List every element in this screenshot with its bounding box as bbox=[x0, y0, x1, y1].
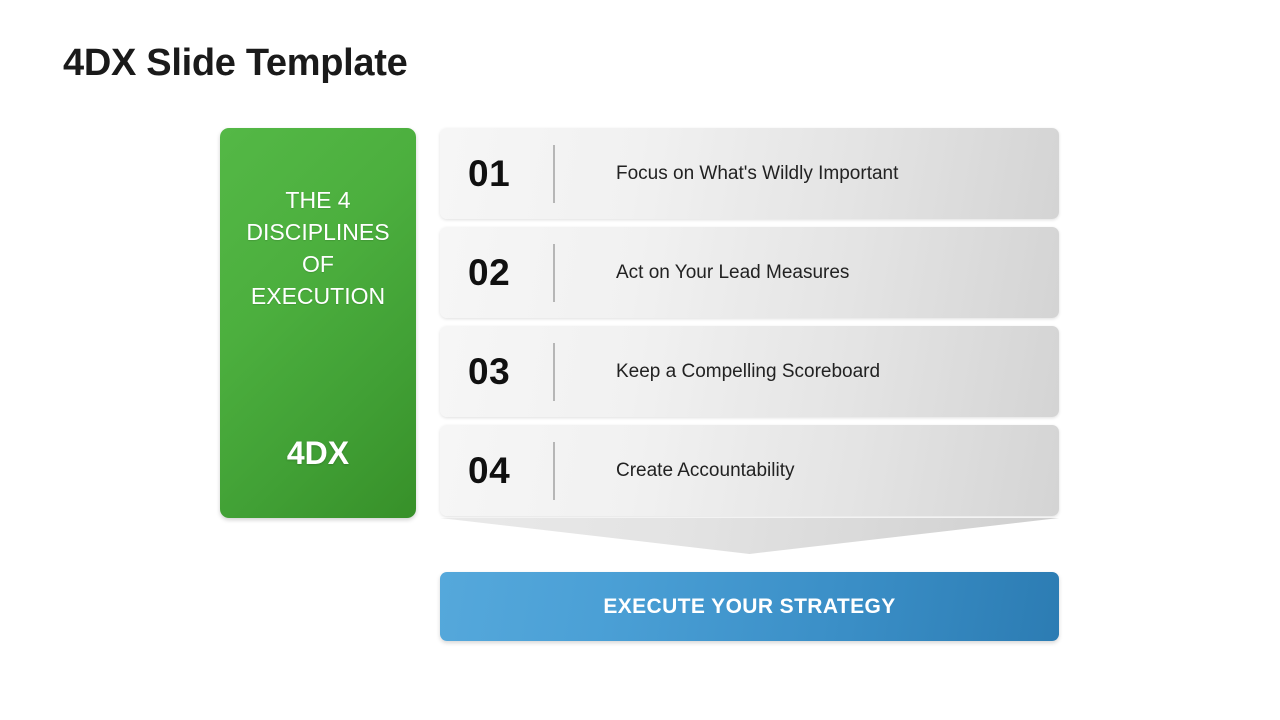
four-disciplines-heading: THE 4 DISCIPLINES OF EXECUTION bbox=[234, 184, 402, 312]
step-label: Create Accountability bbox=[555, 458, 795, 483]
step-number: 03 bbox=[440, 351, 553, 393]
steps-list: 01 Focus on What's Wildly Important 02 A… bbox=[440, 128, 1059, 516]
step-number: 02 bbox=[440, 252, 553, 294]
step-row[interactable]: 03 Keep a Compelling Scoreboard bbox=[440, 326, 1059, 417]
step-label: Keep a Compelling Scoreboard bbox=[555, 359, 880, 384]
execute-strategy-button[interactable]: EXECUTE YOUR STRATEGY bbox=[440, 572, 1059, 641]
execute-strategy-button-label: EXECUTE YOUR STRATEGY bbox=[603, 595, 895, 619]
step-label: Act on Your Lead Measures bbox=[555, 260, 849, 285]
step-row[interactable]: 01 Focus on What's Wildly Important bbox=[440, 128, 1059, 219]
step-number: 01 bbox=[440, 153, 553, 195]
step-row[interactable]: 04 Create Accountability bbox=[440, 425, 1059, 516]
page-title: 4DX Slide Template bbox=[63, 42, 407, 85]
step-label: Focus on What's Wildly Important bbox=[555, 161, 898, 186]
four-disciplines-tag: 4DX bbox=[220, 435, 416, 472]
step-row[interactable]: 02 Act on Your Lead Measures bbox=[440, 227, 1059, 318]
step-number: 04 bbox=[440, 450, 553, 492]
down-arrow-icon bbox=[440, 518, 1059, 554]
four-disciplines-panel: THE 4 DISCIPLINES OF EXECUTION 4DX bbox=[220, 128, 416, 518]
